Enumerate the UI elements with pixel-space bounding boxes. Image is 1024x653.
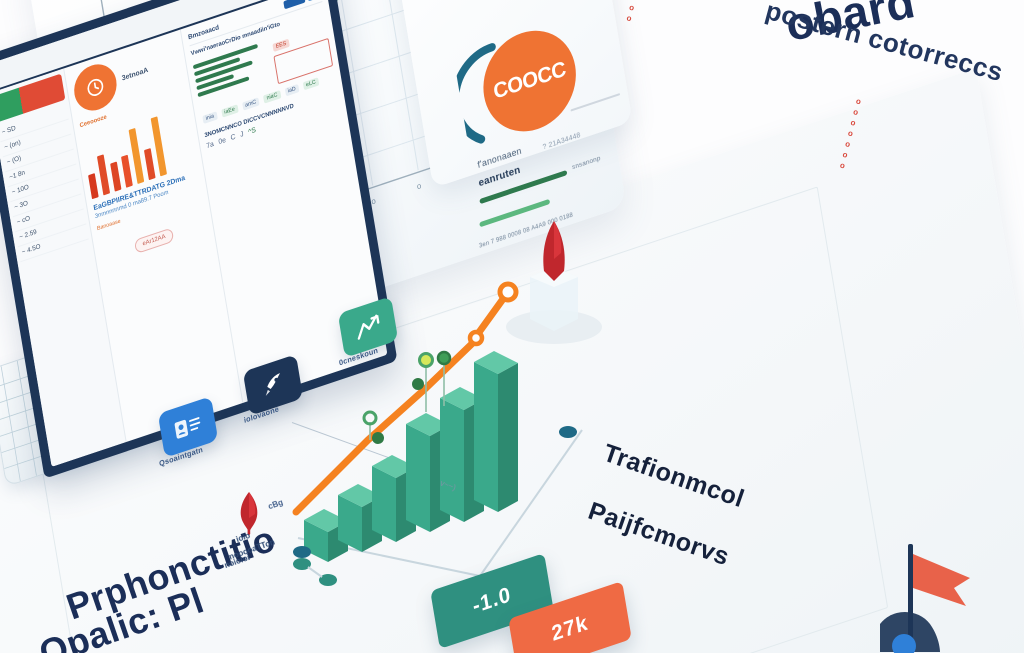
iso-trend-endpoint	[500, 284, 516, 300]
side-panel-row-2: amC	[242, 97, 260, 111]
red-dot: o	[625, 12, 633, 24]
bar	[144, 148, 156, 180]
side-panel-metric: C	[230, 134, 236, 143]
goal-flag	[880, 538, 1000, 653]
bar	[97, 154, 110, 195]
iso-node-right	[559, 426, 577, 438]
side-panel-metric: 7a	[206, 141, 215, 150]
main-panel-donut-caption: 3etnoaA	[121, 66, 148, 82]
side-panel-secondary-button[interactable]	[307, 0, 322, 1]
side-panel-row-3: niaC	[263, 90, 281, 103]
bar	[110, 161, 121, 191]
kpi-donut-label: COOCC	[492, 57, 568, 105]
bar	[88, 173, 99, 199]
contacts-glyph	[172, 411, 204, 442]
illustration-canvas: oo oo oo oo o o- -- 3oteekrram f noaaTis…	[0, 0, 1024, 653]
clock-glyph	[83, 73, 108, 102]
iso-marker-dot-2	[412, 378, 424, 390]
iso-trend-node	[470, 332, 482, 344]
base-nodes	[288, 552, 348, 596]
side-panel-tag-red: EES	[272, 39, 289, 52]
side-panel-primary-button[interactable]	[283, 0, 305, 9]
flag-banner	[913, 554, 970, 606]
main-panel-pill[interactable]: eAr12AA	[134, 227, 174, 254]
rocket-glyph	[258, 369, 289, 402]
bar	[121, 155, 133, 188]
svg-text:o: o	[371, 196, 377, 207]
rocket-highlight	[554, 221, 561, 259]
kpi-divider	[570, 93, 620, 111]
side-panel-metric: ^S	[248, 127, 257, 137]
iso-bar-6	[474, 351, 518, 512]
iso-marker-dot-1	[372, 432, 384, 444]
side-panel-metric: J	[240, 131, 244, 139]
red-dot-column-top: o o	[625, 2, 635, 25]
clock-icon	[71, 58, 120, 116]
kpi-chip-teal-label: -1.0	[471, 583, 513, 620]
side-panel-header: Bmzoaacd	[188, 24, 220, 41]
side-panel-row-5: eLC	[303, 77, 320, 90]
kpi-chip-orange-label: 27k	[550, 611, 590, 647]
side-panel-row-0: inia	[202, 111, 217, 124]
side-panel-row-1: iaEe	[221, 104, 238, 117]
location-pin-glyph	[232, 490, 266, 538]
isometric-bar-chart	[290, 280, 610, 580]
side-panel-metric: 0e	[218, 137, 227, 146]
side-panel-row-4: iaD	[284, 84, 299, 97]
svg-text:o: o	[416, 181, 422, 192]
